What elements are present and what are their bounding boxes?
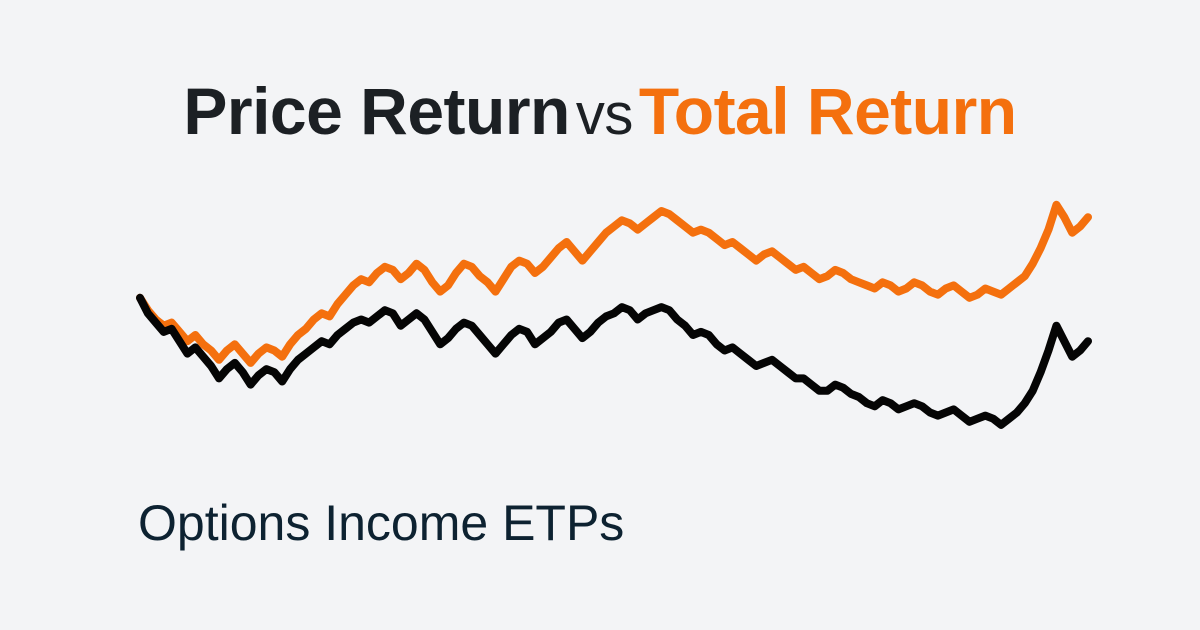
line-chart xyxy=(0,170,1200,500)
title-part-price-return: Price Return xyxy=(183,74,569,148)
title-connector-vs: vs xyxy=(570,82,639,147)
title-part-total-return: Total Return xyxy=(639,74,1017,148)
poster-canvas: Price ReturnvsTotal Return Options Incom… xyxy=(0,0,1200,630)
series-line-price-return xyxy=(140,298,1088,425)
subtitle: Options Income ETPs xyxy=(138,492,1038,554)
title-line: Price ReturnvsTotal Return xyxy=(183,72,1016,154)
subtitle-text: Options Income ETPs xyxy=(138,492,1038,554)
chart-svg xyxy=(0,170,1200,500)
page-title: Price ReturnvsTotal Return xyxy=(0,72,1200,154)
series-line-total-return xyxy=(140,205,1088,363)
